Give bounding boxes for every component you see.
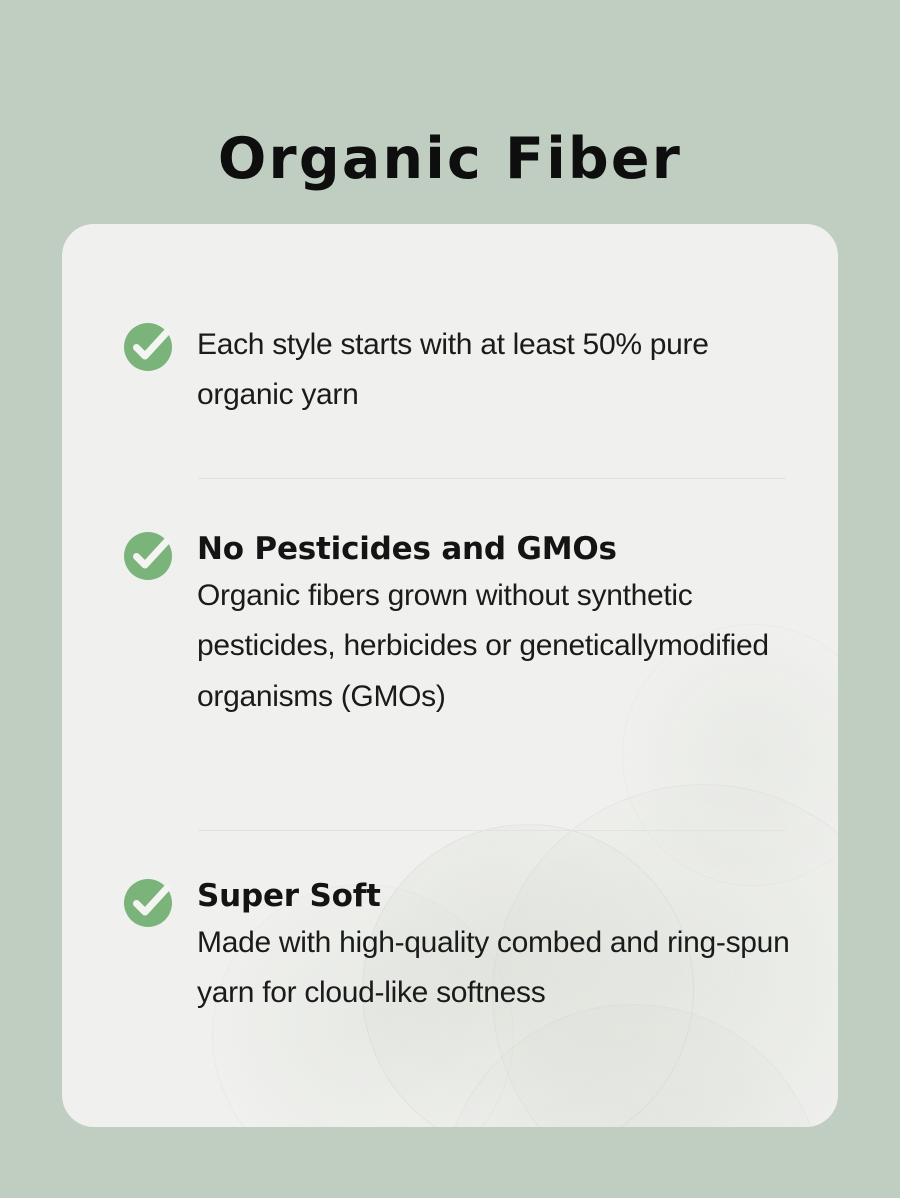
feature-body: Organic fibers grown without synthetic p… xyxy=(197,571,797,722)
feature-text-block: Each style starts with at least 50% pure… xyxy=(197,320,797,421)
divider xyxy=(198,830,786,831)
feature-item-organic-yarn: Each style starts with at least 50% pure… xyxy=(124,320,797,421)
check-circle-icon xyxy=(124,532,172,580)
check-circle-icon xyxy=(124,323,172,371)
feature-text-block: No Pesticides and GMOs Organic fibers gr… xyxy=(197,529,797,722)
divider xyxy=(198,478,786,479)
feature-item-super-soft: Super Soft Made with high-quality combed… xyxy=(124,876,797,1019)
feature-heading: No Pesticides and GMOs xyxy=(197,529,797,570)
feature-item-no-pesticides: No Pesticides and GMOs Organic fibers gr… xyxy=(124,529,797,722)
features-card: Each style starts with at least 50% pure… xyxy=(62,224,838,1127)
feature-text-block: Super Soft Made with high-quality combed… xyxy=(197,876,797,1019)
page-title: Organic Fiber xyxy=(0,130,900,190)
feature-body: Each style starts with at least 50% pure… xyxy=(197,320,797,421)
organic-fiber-infographic: Organic Fiber Each style starts with at … xyxy=(0,0,900,1198)
feature-heading: Super Soft xyxy=(197,876,797,917)
feature-body: Made with high-quality combed and ring-s… xyxy=(197,918,797,1019)
check-circle-icon xyxy=(124,879,172,927)
